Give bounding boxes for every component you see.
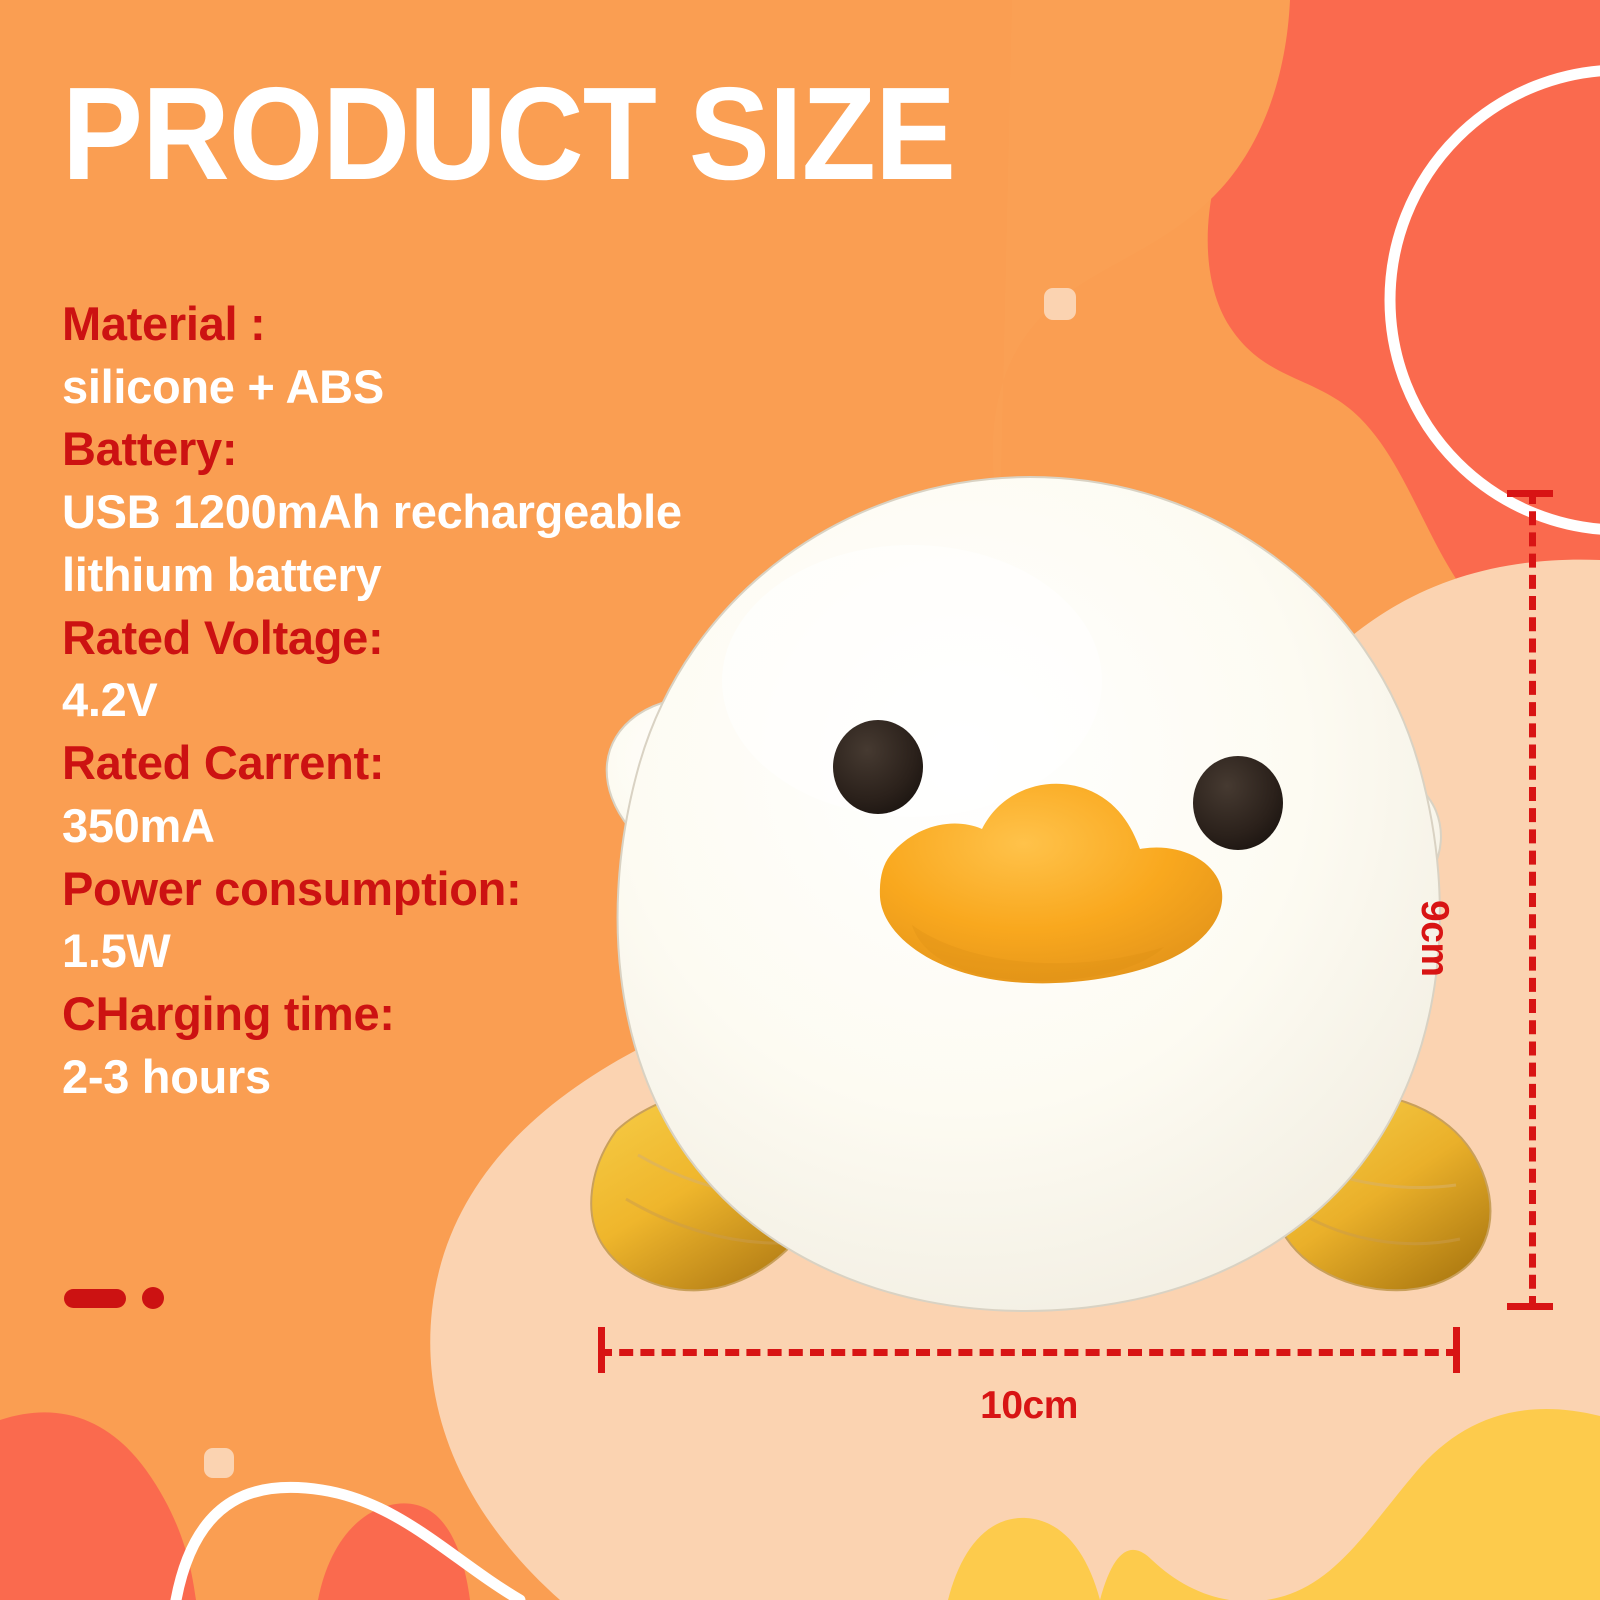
- spec-label-power-consumption: Power consumption:: [62, 858, 822, 921]
- spec-value-rated-current: 350mA: [62, 795, 822, 858]
- spec-label-rated-current: Rated Carrent:: [62, 732, 822, 795]
- width-dimension-label: 10cm: [598, 1384, 1460, 1428]
- height-cap-bottom: [1507, 1303, 1553, 1310]
- height-dashed-line: [1529, 490, 1536, 1310]
- spec-label-rated-voltage: Rated Voltage:: [62, 607, 822, 670]
- accent-mark: [64, 1287, 164, 1309]
- height-dimension-label: 9cm: [1412, 900, 1456, 977]
- spec-label-charging-time: CHarging time:: [62, 983, 822, 1046]
- width-dashed-line: [598, 1349, 1460, 1356]
- spec-value-power-consumption: 1.5W: [62, 920, 822, 983]
- spec-value-charging-time: 2-3 hours: [62, 1046, 822, 1109]
- width-cap-right: [1453, 1327, 1460, 1373]
- spec-value-battery-line1: USB 1200mAh rechargeable: [62, 481, 822, 544]
- accent-dash-icon: [64, 1289, 126, 1308]
- accent-dot-icon: [142, 1287, 164, 1309]
- width-dimension-line: [598, 1325, 1460, 1377]
- height-dimension-line: [1505, 490, 1557, 1310]
- spec-label-battery: Battery:: [62, 418, 822, 481]
- spec-value-battery-line2: lithium battery: [62, 544, 822, 607]
- page-title: PRODUCT SIZE: [62, 68, 1212, 200]
- spec-value-rated-voltage: 4.2V: [62, 669, 822, 732]
- specification-list: Material : silicone + ABS Battery: USB 1…: [62, 293, 822, 1109]
- product-size-poster: PRODUCT SIZE Material : silicone + ABS B…: [0, 0, 1600, 1600]
- spec-value-material: silicone + ABS: [62, 356, 822, 419]
- spec-label-material: Material :: [62, 293, 822, 356]
